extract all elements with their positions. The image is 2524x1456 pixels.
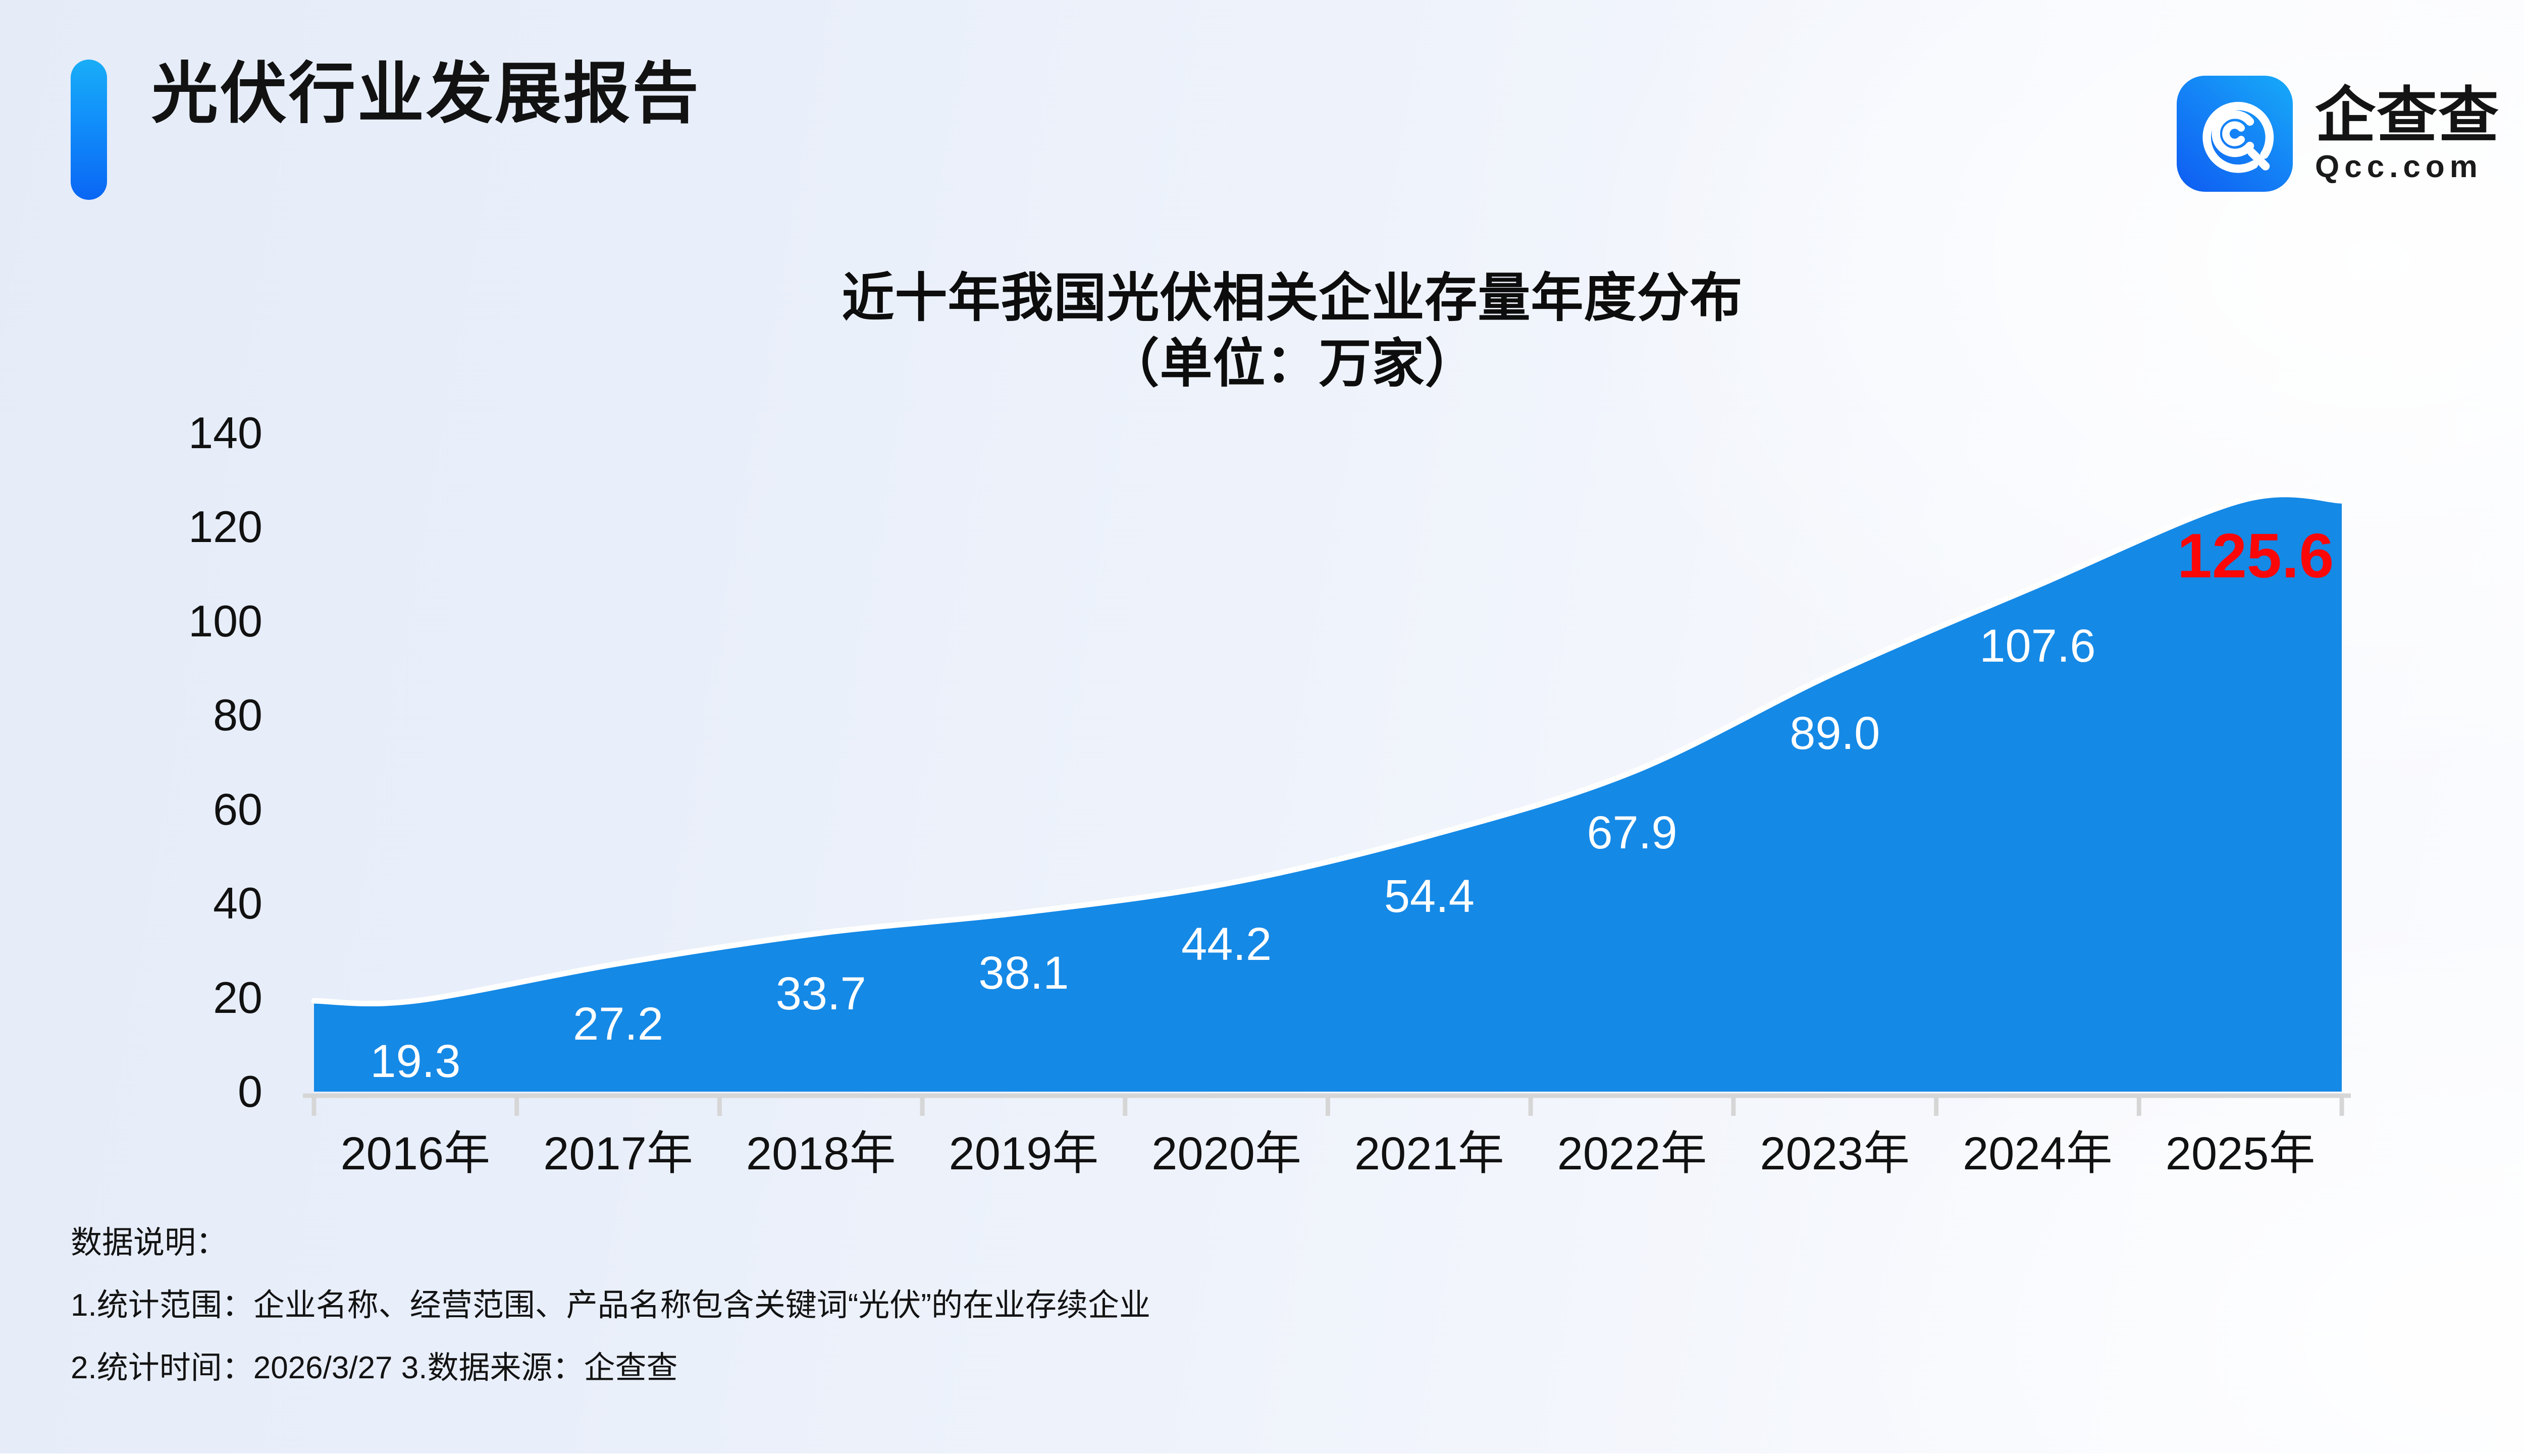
x-axis-category-label: 2025年 [2166, 1130, 2316, 1177]
notes-line-2: 2.统计时间：2026/3/27 3.数据来源：企查查 [71, 1353, 2191, 1384]
notes-line-1: 1.统计范围：企业名称、经营范围、产品名称包含关键词“光伏”的在业存续企业 [71, 1290, 2191, 1321]
y-axis-tick-label: 140 [91, 411, 262, 455]
x-axis-category-label: 2024年 [1963, 1130, 2113, 1177]
data-value-label: 107.6 [1979, 623, 2095, 669]
x-axis-category-label: 2019年 [949, 1130, 1099, 1177]
x-axis-category-label: 2021年 [1354, 1130, 1504, 1177]
x-axis-category-label: 2020年 [1151, 1130, 1301, 1177]
x-axis-category-label: 2017年 [543, 1130, 693, 1177]
notes-heading: 数据说明： [71, 1227, 2191, 1259]
data-notes: 数据说明： 1.统计范围：企业名称、经营范围、产品名称包含关键词“光伏”的在业存… [71, 1227, 2191, 1384]
data-value-label: 19.3 [370, 1038, 460, 1085]
x-axis-category-label: 2022年 [1557, 1130, 1707, 1177]
y-axis-tick-label: 40 [91, 881, 262, 926]
x-axis-category-label: 2016年 [341, 1130, 491, 1177]
x-axis-category-label: 2018年 [746, 1130, 896, 1177]
data-value-label: 38.1 [978, 950, 1069, 996]
data-value-label: 27.2 [573, 1001, 663, 1047]
data-value-label: 33.7 [776, 970, 866, 1017]
y-axis-tick-label: 80 [91, 693, 262, 737]
report-canvas: 光伏行业发展报告 企查查 Qcc.com 近十年我国光伏相关企业存量年度分布 （… [0, 0, 2524, 1453]
data-value-label: 89.0 [1790, 710, 1880, 757]
data-value-label: 44.2 [1181, 921, 1272, 967]
y-axis-tick-label: 20 [91, 976, 262, 1020]
data-value-label: 67.9 [1587, 810, 1677, 856]
data-value-label: 125.6 [2177, 525, 2334, 587]
y-axis-tick-label: 60 [91, 787, 262, 832]
y-axis-tick-label: 100 [91, 599, 262, 643]
x-axis-category-label: 2023年 [1760, 1130, 1910, 1177]
data-value-label: 54.4 [1384, 873, 1475, 920]
y-axis-tick-label: 0 [91, 1069, 262, 1114]
y-axis-tick-label: 120 [91, 505, 262, 549]
